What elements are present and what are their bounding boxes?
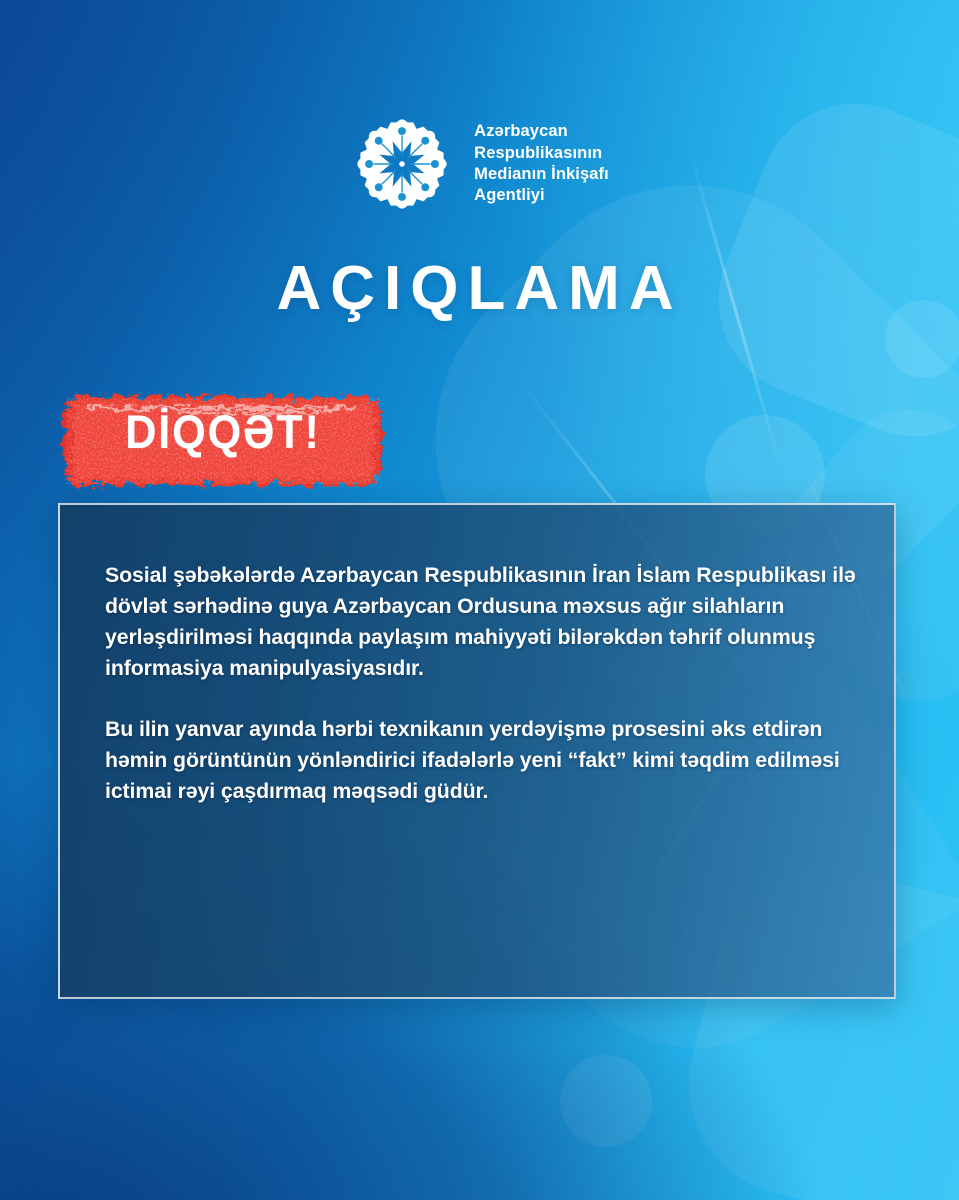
mida-snowflake-logo-icon (350, 112, 454, 216)
page-title: AÇIQLAMA (0, 258, 959, 320)
statement-paragraph-2: Bu ilin yanvar ayında hərbi texnikanın y… (105, 714, 874, 807)
statement-panel: Sosial şəbəkələrdə Azərbaycan Respublika… (58, 503, 896, 999)
attention-banner-label: DİQQƏT! (71, 408, 375, 455)
attention-banner: DİQQƏT! (58, 392, 388, 490)
statement-body: Sosial şəbəkələrdə Azərbaycan Respublika… (105, 560, 874, 807)
organization-name: Azərbaycan Respublikasının Medianın İnki… (474, 121, 609, 207)
statement-paragraph-1: Sosial şəbəkələrdə Azərbaycan Respublika… (105, 560, 874, 684)
brand-lockup: Azərbaycan Respublikasının Medianın İnki… (0, 112, 959, 216)
